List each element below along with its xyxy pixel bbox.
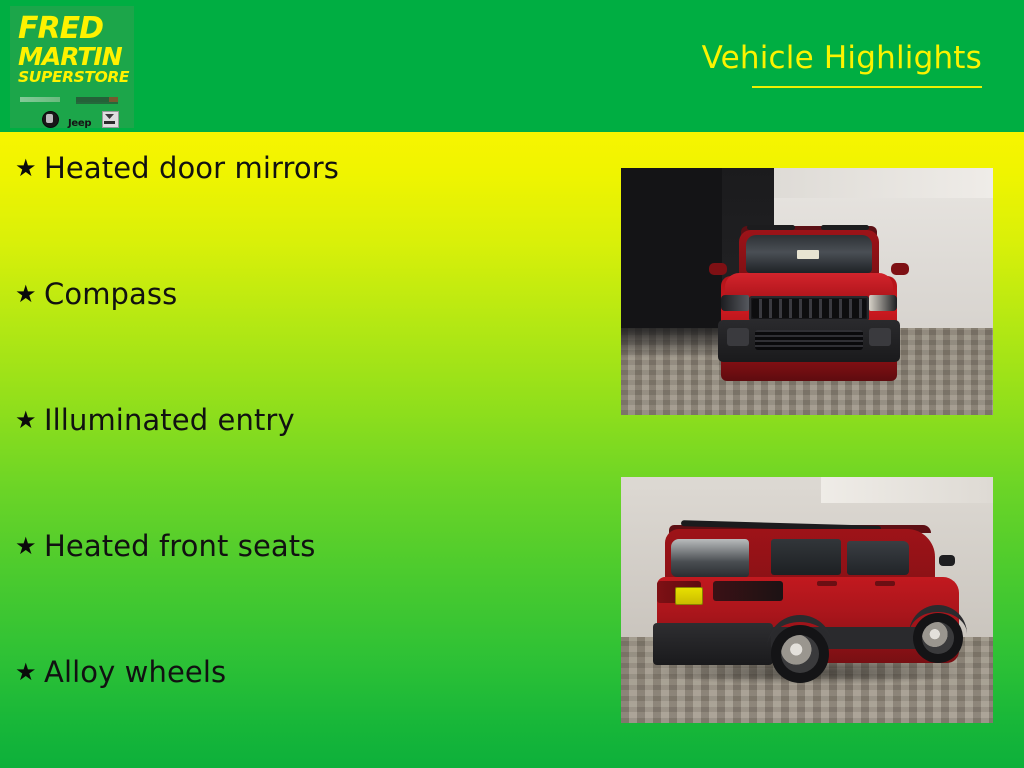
logo-line-superstore: SUPERSTORE [18,70,129,86]
logo-line-fred: FRED [18,14,103,44]
jeep-badge-icon: Jeep [68,113,91,131]
vehicle-photo-rear[interactable] [621,477,993,723]
showroom-scene-front [621,168,993,415]
ram-badge-icon [42,111,59,128]
alloy-wheel-rear [771,625,829,683]
list-item-label: Alloy wheels [44,654,226,690]
header-bar: Vehicle Highlights FRED MARTIN SUPERSTOR… [0,0,1024,132]
jeep-badge-label: Jeep [68,118,91,129]
list-item-label: Heated front seats [44,528,315,564]
license-plate [675,587,703,605]
list-item-label: Heated door mirrors [44,150,339,186]
star-icon: ★ [15,660,37,684]
star-icon: ★ [15,156,37,180]
list-item: ★ Illuminated entry [0,402,600,528]
star-icon: ★ [15,408,37,432]
list-item: ★ Heated door mirrors [0,150,600,276]
list-item: ★ Heated front seats [0,528,600,654]
dodge-underline-icon [76,102,118,104]
star-icon: ★ [15,282,37,306]
chrysler-wordmark-icon [20,97,60,102]
chrysler-badge-icon [102,111,119,128]
list-item: ★ Alloy wheels [0,654,600,768]
page-title: Vehicle Highlights [702,40,982,76]
list-item: ★ Compass [0,276,600,402]
showroom-scene-rear [621,477,993,723]
list-item-label: Illuminated entry [44,402,295,438]
highlights-list: ★ Heated door mirrors ★ Compass ★ Illumi… [0,150,600,768]
slide: Vehicle Highlights FRED MARTIN SUPERSTOR… [0,0,1024,768]
vehicle-photo-front[interactable] [621,168,993,415]
list-item-label: Compass [44,276,177,312]
brand-wordmark-row [18,96,126,106]
brand-badge-row: Jeep [18,111,126,131]
alloy-wheel-front [913,613,963,663]
logo-line-martin: MARTIN [18,44,122,69]
star-icon: ★ [15,534,37,558]
title-underline [752,86,982,88]
dealer-logo[interactable]: FRED MARTIN SUPERSTORE Jeep [10,6,134,128]
